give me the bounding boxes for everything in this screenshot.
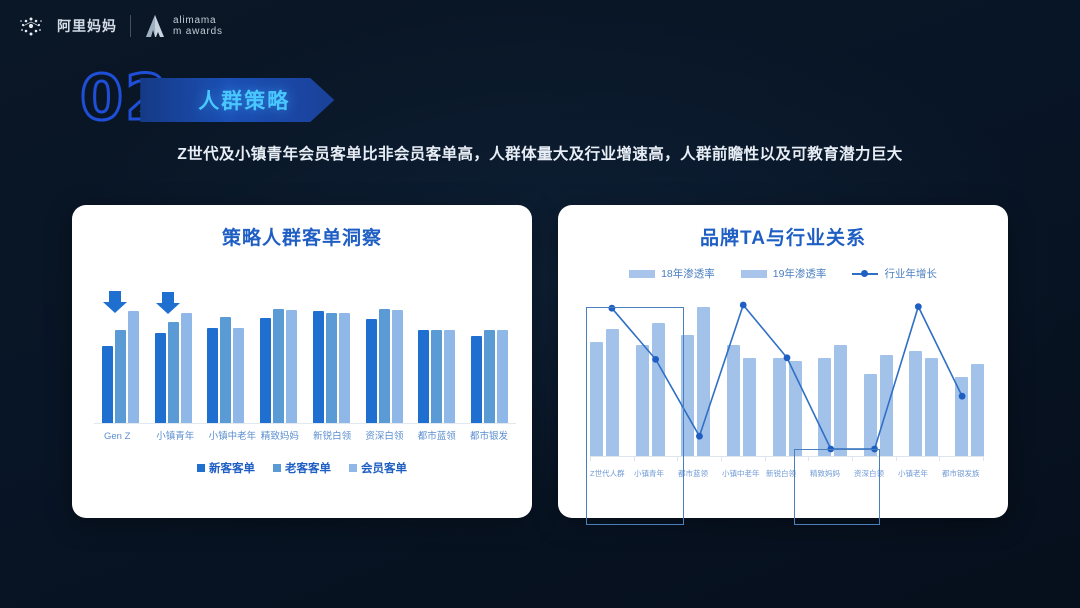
legend-swatch: [349, 464, 357, 472]
down-arrow-icon: [102, 290, 128, 314]
left-x-label: 小镇青年: [156, 431, 194, 442]
left-bar: [181, 313, 192, 424]
legend-label-growth: 行业年增长: [884, 266, 937, 281]
left-bar-group: [418, 290, 455, 424]
right-chart-x-labels: Z世代人群小镇青年都市蓝领小镇中老年新锐白领精致妈妈资深白领小镇老年都市银发族: [590, 459, 984, 503]
left-bar: [102, 346, 113, 424]
left-bar: [339, 313, 350, 424]
left-bar: [233, 328, 244, 424]
awards-line-1: alimama: [173, 15, 223, 27]
left-legend-item: 新客客单: [197, 460, 255, 476]
left-bar: [260, 318, 271, 424]
left-legend-item: 会员客单: [349, 460, 407, 476]
left-x-label: 都市银发: [470, 431, 508, 442]
legend-label: 会员客单: [361, 460, 407, 476]
chart-card-left: 策略人群客单洞察 Gen Z小镇青年小镇中老年精致妈妈新锐白领资深白领都市蓝领都…: [72, 205, 532, 518]
section-banner: 人群策略: [140, 78, 334, 122]
left-x-label: 小镇中老年: [209, 431, 257, 442]
logo-divider: [130, 15, 131, 37]
mountain-triangle-icon: [144, 13, 166, 39]
right-x-label: 都市蓝领: [678, 469, 708, 478]
right-chart-plot: [590, 297, 984, 457]
legend-swatch-19: [741, 270, 767, 278]
legend-item-growth: 行业年增长: [852, 266, 937, 281]
left-bar: [484, 330, 495, 424]
left-chart-title: 策略人群客单洞察: [72, 205, 532, 250]
right-combo-chart: Z世代人群小镇青年都市蓝领小镇中老年新锐白领精致妈妈资深白领小镇老年都市银发族: [572, 291, 994, 503]
legend-item-19: 19年渗透率: [741, 266, 827, 281]
right-x-label: 小镇青年: [634, 469, 664, 478]
slide-subtitle: Z世代及小镇青年会员客单比非会员客单高，人群体量大及行业增速高，人群前瞻性以及可…: [0, 142, 1080, 164]
left-bar: [471, 336, 482, 424]
left-x-label: 资深白领: [365, 431, 403, 442]
brand-name-cn: 阿里妈妈: [57, 16, 117, 36]
left-bar: [326, 313, 337, 424]
right-x-label: 资深白领: [854, 469, 884, 478]
left-x-label: 精致妈妈: [261, 431, 299, 442]
legend-label-18: 18年渗透率: [661, 266, 715, 281]
legend-swatch-growth: [852, 273, 878, 275]
legend-swatch: [197, 464, 205, 472]
right-chart-growth-line: [590, 297, 984, 457]
left-chart-legend: 新客客单老客客单会员客单: [72, 460, 532, 476]
left-bar-group: [313, 290, 350, 424]
brand-logo-bar: 阿里妈妈 alimama m awards: [18, 10, 223, 42]
legend-label: 新客客单: [209, 460, 255, 476]
left-bar-group: [366, 290, 403, 424]
right-x-label: Z世代人群: [590, 469, 625, 478]
right-x-label: 精致妈妈: [810, 469, 840, 478]
left-bar: [366, 319, 377, 424]
left-x-label: Gen Z: [104, 431, 130, 442]
left-bar-chart: Gen Z小镇青年小镇中老年精致妈妈新锐白领资深白领都市蓝领都市银发: [88, 258, 516, 454]
left-bar: [273, 309, 284, 424]
left-bar-group: [207, 290, 244, 424]
left-bar: [497, 330, 508, 424]
left-bar: [128, 311, 139, 424]
section-title: 人群策略: [198, 85, 290, 115]
left-bar: [220, 317, 231, 424]
left-bar: [168, 322, 179, 424]
slide-root: 阿里妈妈 alimama m awards 02 人群策略 Z世代及小镇青年会员: [0, 0, 1080, 608]
left-bar-group: [155, 290, 192, 424]
left-bar-group: [102, 290, 139, 424]
left-bar-group: [260, 290, 297, 424]
awards-logo: alimama m awards: [144, 13, 223, 39]
right-x-label: 小镇老年: [898, 469, 928, 478]
left-x-label: 都市蓝领: [418, 431, 456, 442]
legend-label: 老客客单: [285, 460, 331, 476]
legend-label-19: 19年渗透率: [773, 266, 827, 281]
right-x-label: 新锐白领: [766, 469, 796, 478]
left-bar: [155, 333, 166, 424]
legend-swatch-18: [629, 270, 655, 278]
awards-line-2: m awards: [173, 26, 223, 38]
left-bar: [115, 330, 126, 424]
left-bar-group: [471, 290, 508, 424]
legend-item-18: 18年渗透率: [629, 266, 715, 281]
left-bar: [444, 330, 455, 424]
down-arrow-icon: [155, 291, 181, 315]
left-bar: [379, 309, 390, 424]
chart-card-right: 品牌TA与行业关系 18年渗透率 19年渗透率 行业年增长 Z世代人群小镇青: [558, 205, 1008, 518]
left-bar: [313, 311, 324, 424]
right-chart-title: 品牌TA与行业关系: [558, 205, 1008, 250]
left-bar: [431, 330, 442, 424]
left-bar: [392, 310, 403, 424]
left-bar: [418, 330, 429, 424]
left-legend-item: 老客客单: [273, 460, 331, 476]
left-x-label: 新锐白领: [313, 431, 351, 442]
legend-swatch: [273, 464, 281, 472]
left-chart-plot: [102, 290, 508, 424]
left-bar: [286, 310, 297, 424]
alimama-dots-icon: [18, 13, 44, 39]
section-header: 02 人群策略: [80, 72, 334, 128]
right-chart-legend: 18年渗透率 19年渗透率 行业年增长: [558, 266, 1008, 281]
left-bar: [207, 328, 218, 424]
left-chart-x-labels: Gen Z小镇青年小镇中老年精致妈妈新锐白领资深白领都市蓝领都市银发: [102, 424, 508, 454]
right-x-label: 小镇中老年: [722, 469, 760, 478]
right-x-label: 都市银发族: [942, 469, 980, 478]
